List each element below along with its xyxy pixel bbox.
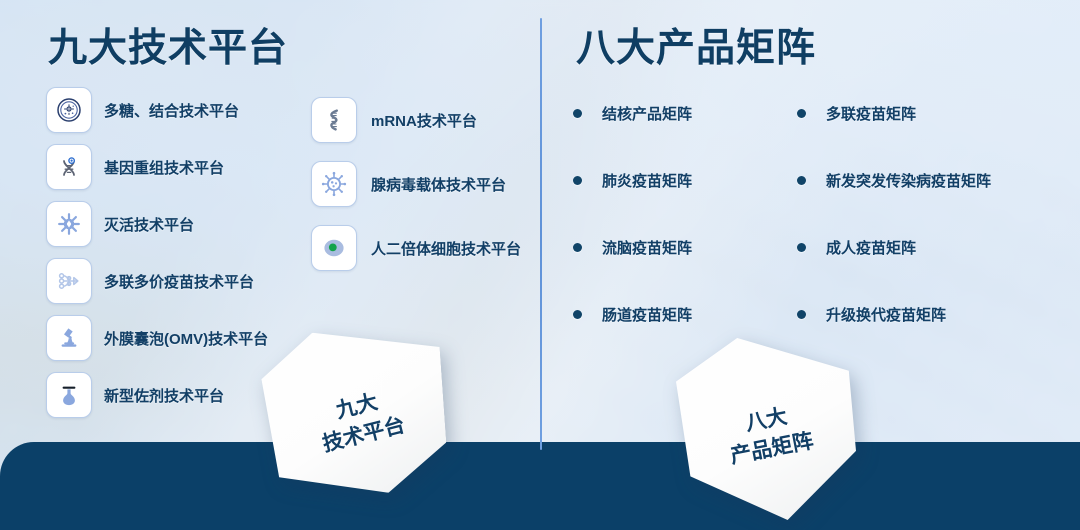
tech-platform-label: 灭活技术平台 bbox=[104, 214, 194, 235]
cell-nucleus-icon bbox=[311, 225, 357, 271]
slide-canvas: 九大技术平台 多糖、结合技术平台 bbox=[0, 0, 1080, 530]
tech-platform-label: 人二倍体细胞技术平台 bbox=[371, 238, 521, 259]
product-matrix-label: 流脑疫苗矩阵 bbox=[602, 237, 692, 258]
tech-platform-item[interactable]: 灭活技术平台 bbox=[46, 202, 268, 246]
product-matrix-label: 结核产品矩阵 bbox=[602, 103, 692, 124]
left-panel-title: 九大技术平台 bbox=[48, 17, 288, 73]
product-matrix-label: 肺炎疫苗矩阵 bbox=[602, 170, 692, 191]
bullet-icon bbox=[573, 109, 582, 118]
tech-platform-item[interactable]: 人二倍体细胞技术平台 bbox=[311, 226, 521, 270]
microscope-icon bbox=[46, 315, 92, 361]
tech-platform-item[interactable]: 外膜囊泡(OMV)技术平台 bbox=[46, 316, 268, 360]
product-matrix-item[interactable]: 成人疫苗矩阵 bbox=[797, 237, 991, 257]
tech-platform-column-b: mRNA技术平台 bbox=[311, 98, 521, 290]
product-matrix-item[interactable]: 新发突发传染病疫苗矩阵 bbox=[797, 170, 991, 190]
bullet-icon bbox=[573, 310, 582, 319]
tech-platform-item[interactable]: 多糖、结合技术平台 bbox=[46, 88, 268, 132]
flask-icon bbox=[46, 372, 92, 418]
product-matrix-item[interactable]: 流脑疫苗矩阵 bbox=[573, 237, 692, 257]
mrna-strand-icon bbox=[311, 97, 357, 143]
right-panel-title: 八大产品矩阵 bbox=[576, 17, 816, 73]
adenovirus-icon bbox=[311, 161, 357, 207]
product-matrix-label: 成人疫苗矩阵 bbox=[826, 237, 916, 258]
tech-platform-label: 多糖、结合技术平台 bbox=[104, 100, 239, 121]
bullet-icon bbox=[573, 176, 582, 185]
petri-dish-icon bbox=[46, 87, 92, 133]
bullet-icon bbox=[797, 109, 806, 118]
tech-platform-item[interactable]: 新型佐剂技术平台 bbox=[46, 373, 268, 417]
product-matrix-label: 多联疫苗矩阵 bbox=[826, 103, 916, 124]
bullet-icon bbox=[797, 176, 806, 185]
product-matrix-label: 升级换代疫苗矩阵 bbox=[826, 304, 946, 325]
product-matrix-label: 新发突发传染病疫苗矩阵 bbox=[826, 170, 991, 191]
product-matrix-item[interactable]: 结核产品矩阵 bbox=[573, 103, 692, 123]
product-matrix-item[interactable]: 多联疫苗矩阵 bbox=[797, 103, 991, 123]
tech-platform-label: 多联多价疫苗技术平台 bbox=[104, 271, 254, 292]
tech-platform-label: 新型佐剂技术平台 bbox=[104, 385, 224, 406]
product-matrix-label: 肠道疫苗矩阵 bbox=[602, 304, 692, 325]
tech-platform-label: 外膜囊泡(OMV)技术平台 bbox=[104, 328, 268, 349]
eight-matrix-hex-badge: 八大 产品矩阵 bbox=[676, 338, 856, 520]
bullet-icon bbox=[573, 243, 582, 252]
tech-platform-item[interactable]: 基因重组技术平台 bbox=[46, 145, 268, 189]
virus-inactivated-icon bbox=[46, 201, 92, 247]
tech-platform-item[interactable]: 腺病毒载体技术平台 bbox=[311, 162, 521, 206]
left-panel: 九大技术平台 多糖、结合技术平台 bbox=[0, 0, 540, 530]
product-matrix-item[interactable]: 肠道疫苗矩阵 bbox=[573, 304, 692, 324]
tech-platform-item[interactable]: mRNA技术平台 bbox=[311, 98, 521, 142]
product-matrix-column-a: 结核产品矩阵 肺炎疫苗矩阵 流脑疫苗矩阵 肠道疫苗矩阵 bbox=[573, 103, 692, 371]
product-matrix-item[interactable]: 肺炎疫苗矩阵 bbox=[573, 170, 692, 190]
bullet-icon bbox=[797, 310, 806, 319]
molecule-branch-icon bbox=[46, 258, 92, 304]
tech-platform-label: 腺病毒载体技术平台 bbox=[371, 174, 506, 195]
bullet-icon bbox=[797, 243, 806, 252]
tech-platform-item[interactable]: 多联多价疫苗技术平台 bbox=[46, 259, 268, 303]
tech-platform-column-a: 多糖、结合技术平台 基因重组技术平台 bbox=[46, 88, 268, 430]
product-matrix-column-b: 多联疫苗矩阵 新发突发传染病疫苗矩阵 成人疫苗矩阵 升级换代疫苗矩阵 bbox=[797, 103, 991, 371]
tech-platform-label: mRNA技术平台 bbox=[371, 110, 477, 131]
product-matrix-item[interactable]: 升级换代疫苗矩阵 bbox=[797, 304, 991, 324]
tech-platform-label: 基因重组技术平台 bbox=[104, 157, 224, 178]
dna-helix-icon bbox=[46, 144, 92, 190]
nine-platforms-hex-badge: 九大 技术平台 bbox=[264, 330, 444, 495]
